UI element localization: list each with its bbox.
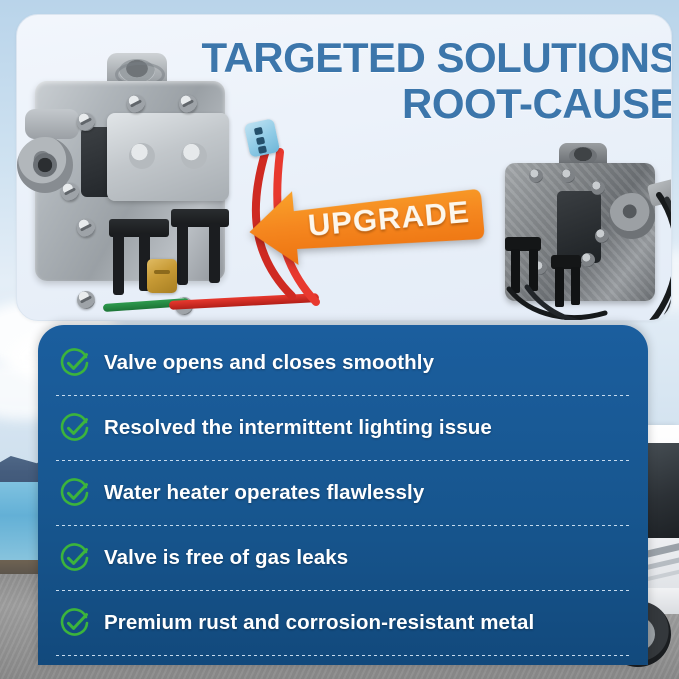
connector-pin	[254, 127, 263, 136]
valve-face-plate	[107, 113, 229, 201]
screw-icon	[529, 169, 543, 183]
check-circle-icon	[60, 543, 90, 573]
infographic-canvas: TARGETED SOLUTIONS ROOT-CAUSE	[0, 0, 679, 679]
screw-icon	[61, 183, 79, 201]
valve-terminal-leg	[209, 223, 220, 283]
screw-icon	[561, 169, 575, 183]
divider	[56, 655, 630, 656]
screw-icon	[581, 253, 595, 267]
list-item: Resolved the intermittent lighting issue	[54, 396, 632, 460]
screw-icon	[595, 229, 609, 243]
valve-terminal-leg	[113, 233, 124, 295]
black-wire-lead	[501, 283, 611, 321]
connector-pin	[258, 145, 267, 154]
benefit-text: Valve opens and closes smoothly	[104, 351, 434, 375]
hero-panel: TARGETED SOLUTIONS ROOT-CAUSE	[16, 14, 672, 321]
divider	[56, 590, 630, 591]
list-item: Valve opens and closes smoothly	[54, 331, 632, 395]
benefit-text: Valve is free of gas leaks	[104, 546, 348, 570]
benefits-list: Valve opens and closes smoothly Resolved…	[38, 325, 648, 665]
brass-fitting	[147, 259, 177, 293]
check-circle-icon	[60, 348, 90, 378]
old-gas-valve-image	[499, 143, 672, 321]
divider	[56, 525, 630, 526]
list-item: Valve is free of gas leaks	[54, 526, 632, 590]
old-valve-solenoid-housing	[557, 191, 601, 263]
valve-terminal-leg	[177, 223, 188, 285]
screw-icon	[77, 219, 95, 237]
valve-inlet-bore	[33, 153, 57, 177]
check-circle-icon	[60, 413, 90, 443]
black-wire-loop	[619, 191, 672, 321]
screw-icon	[77, 113, 95, 131]
connector-pin	[256, 137, 265, 146]
valve-boss	[181, 143, 207, 169]
list-item: Water heater operates flawlessly	[54, 461, 632, 525]
valve-side-neck	[25, 109, 79, 139]
check-circle-icon	[60, 608, 90, 638]
benefit-text: Water heater operates flawlessly	[104, 481, 424, 505]
screw-icon	[179, 95, 197, 113]
check-circle-icon	[60, 478, 90, 508]
divider	[56, 460, 630, 461]
list-item: Premium rust and corrosion-resistant met…	[54, 591, 632, 655]
divider	[56, 395, 630, 396]
benefit-text: Resolved the intermittent lighting issue	[104, 416, 492, 440]
valve-boss	[129, 143, 155, 169]
screw-icon	[127, 95, 145, 113]
benefits-card: Valve opens and closes smoothly Resolved…	[38, 325, 648, 665]
benefit-text: Premium rust and corrosion-resistant met…	[104, 611, 534, 635]
screw-icon	[77, 291, 95, 309]
new-gas-valve-image	[19, 51, 254, 321]
screw-icon	[591, 181, 605, 195]
